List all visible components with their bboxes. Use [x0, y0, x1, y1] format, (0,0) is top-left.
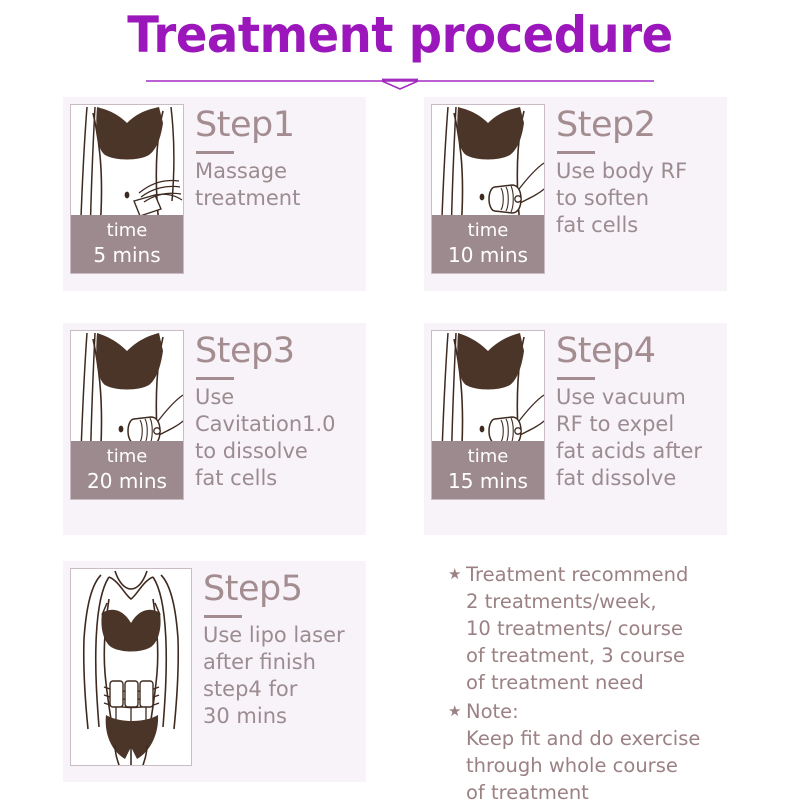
step-1-time-bar: time 5 mins	[71, 215, 183, 273]
step-1-description: Massage treatment	[195, 158, 359, 212]
steps-row-1: time 5 mins Step1 Massage treatment	[63, 97, 763, 323]
step-2-label: Step2	[556, 106, 720, 145]
full-body-lipo-illustration	[71, 569, 191, 765]
step-4-figure: time 15 mins	[431, 330, 545, 500]
step-3-label: Step3	[195, 332, 359, 371]
steps-row-3: Step5 Use lipo laser after finish step4 …	[63, 561, 763, 791]
page-header: Treatment procedure	[0, 6, 800, 64]
step-2-text: Step2 Use body RF to soften fat cells	[545, 104, 720, 239]
step-card-2[interactable]: time 10 mins Step2 Use body RF to soften…	[424, 97, 727, 291]
step-4-time-bar: time 15 mins	[432, 441, 544, 499]
note-1-detail: 2 treatments/week, 10 treatments/ course…	[466, 590, 685, 694]
title-divider	[146, 76, 654, 90]
step-4-text: Step4 Use vacuum RF to expel fat acids a…	[545, 330, 720, 492]
step-3-time-value: 20 mins	[71, 469, 183, 493]
step-4-time-value: 15 mins	[432, 469, 544, 493]
step-1-time-caption: time	[107, 220, 148, 241]
step-2-time-value: 10 mins	[432, 243, 544, 267]
note-item-1: ★ Treatment recommend 2 treatments/week,…	[448, 561, 768, 696]
note-2-body: Note: Keep fit and do exercise through w…	[466, 698, 700, 806]
step-5-description: Use lipo laser after finish step4 for 30…	[203, 622, 359, 730]
star-bullet-icon: ★	[448, 561, 466, 588]
star-bullet-icon: ★	[448, 698, 466, 725]
step-card-5[interactable]: Step5 Use lipo laser after finish step4 …	[63, 561, 366, 782]
step-2-description: Use body RF to soften fat cells	[556, 158, 720, 239]
step-4-rule	[557, 377, 595, 380]
rf-handpiece-icon	[489, 185, 521, 213]
page-title: Treatment procedure	[28, 6, 772, 64]
step-3-rule	[196, 377, 234, 380]
note-2-head: Note:	[466, 700, 519, 723]
step-card-4[interactable]: time 15 mins Step4 Use vacuum RF to expe…	[424, 323, 727, 535]
step-card-3[interactable]: time 20 mins Step3 Use Cavitation1.0 to …	[63, 323, 366, 535]
note-1-head: Treatment recommend	[466, 563, 688, 586]
step-5-rule	[204, 615, 242, 618]
note-2-detail: Keep fit and do exercise through whole c…	[466, 727, 700, 804]
note-1-body: Treatment recommend 2 treatments/week, 1…	[466, 561, 688, 696]
step-1-text: Step1 Massage treatment	[184, 104, 359, 212]
step-3-text: Step3 Use Cavitation1.0 to dissolve fat …	[184, 330, 359, 492]
step-3-description: Use Cavitation1.0 to dissolve fat cells	[195, 384, 359, 492]
steps-grid: time 5 mins Step1 Massage treatment	[63, 97, 763, 791]
step-4-time-caption: time	[468, 446, 509, 467]
step-1-rule	[196, 151, 234, 154]
step-3-figure: time 20 mins	[70, 330, 184, 500]
step-5-label: Step5	[203, 570, 359, 609]
step-5-figure	[70, 568, 192, 766]
step-1-label: Step1	[195, 106, 359, 145]
steps-row-2: time 20 mins Step3 Use Cavitation1.0 to …	[63, 323, 763, 561]
step-3-time-caption: time	[107, 446, 148, 467]
step-2-rule	[557, 151, 595, 154]
notes-panel: ★ Treatment recommend 2 treatments/week,…	[448, 561, 768, 808]
step-2-time-caption: time	[468, 220, 509, 241]
step-card-1[interactable]: time 5 mins Step1 Massage treatment	[63, 97, 366, 291]
step-3-time-bar: time 20 mins	[71, 441, 183, 499]
step-4-label: Step4	[556, 332, 720, 371]
step-5-text: Step5 Use lipo laser after finish step4 …	[192, 568, 359, 730]
step-2-figure: time 10 mins	[431, 104, 545, 274]
step-1-figure: time 5 mins	[70, 104, 184, 274]
note-item-2: ★ Note: Keep fit and do exercise through…	[448, 698, 768, 806]
step-4-description: Use vacuum RF to expel fat acids after f…	[556, 384, 720, 492]
step-2-time-bar: time 10 mins	[432, 215, 544, 273]
step-1-time-value: 5 mins	[71, 243, 183, 267]
